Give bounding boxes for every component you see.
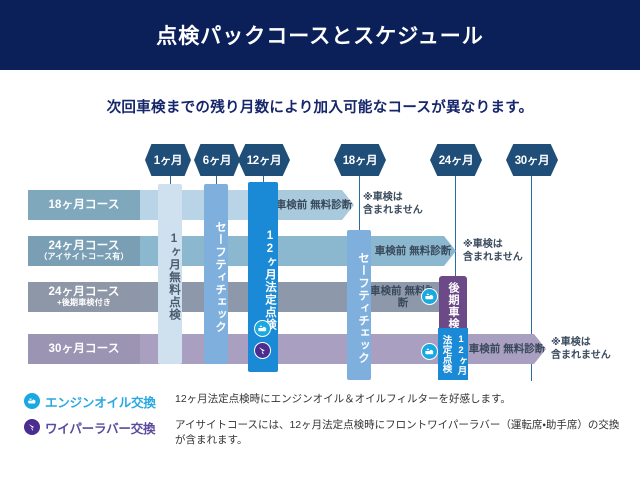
month-marker-12: 12ヶ月 — [238, 144, 290, 176]
legend-item-wiper: ワイパーラバー交換 アイサイトコースには、12ヶ月法定点検時にフロントワイパーラ… — [24, 418, 624, 448]
row-label-18-main: 18ヶ月コース — [48, 199, 119, 211]
month-marker-30: 30ヶ月 — [506, 144, 558, 176]
oil-can-icon-row3 — [421, 288, 438, 305]
oil-can-icon-row4 — [421, 343, 438, 360]
pre-inspection-chip-row4: 車検前 無料診断 — [468, 334, 546, 364]
row-label-24-eyesight: 24ヶ月コース （アイサイトコース有） — [28, 236, 140, 266]
wiper-icon — [24, 419, 40, 435]
legend-item-oil: エンジンオイル交換 12ヶ月法定点検時にエンジンオイル＆オイルフィルターを好感し… — [24, 392, 624, 411]
oil-can-icon — [24, 393, 40, 409]
oil-can-icon-main — [254, 320, 271, 337]
subtitle-text: 次回車検までの残り月数により加入可能なコースが異なります。 — [0, 96, 640, 117]
note-row2: ※車検は 含まれません — [463, 238, 523, 264]
month-marker-1: 1ヶ月 — [145, 144, 191, 176]
legal-check-12m-row4: 法定点検 12ヶ月 — [438, 328, 468, 380]
schedule-chart: 1ヶ月 6ヶ月 12ヶ月 18ヶ月 24ヶ月 30ヶ月 18ヶ月コース 車検前 … — [0, 138, 640, 383]
row-label-30-main: 30ヶ月コース — [48, 343, 119, 355]
month-marker-6: 6ヶ月 — [194, 144, 240, 176]
legend-label-wiper: ワイパーラバー交換 — [45, 418, 175, 437]
row-label-18: 18ヶ月コース — [28, 190, 140, 220]
legend-desc-oil: 12ヶ月法定点検時にエンジンオイル＆オイルフィルターを好感します。 — [175, 392, 624, 407]
late-inspection-box: 後期車検 — [439, 276, 467, 336]
month-marker-18: 18ヶ月 — [334, 144, 386, 176]
row-label-24-late-sub: +後期車検付き — [57, 299, 111, 307]
safety-check-bar-right: セーフティチェック — [347, 230, 371, 380]
wiper-icon-main — [254, 342, 271, 359]
legal-check-12m-row4-b: 12ヶ月 — [453, 328, 468, 380]
row-label-24-eyesight-main: 24ヶ月コース — [48, 240, 119, 252]
legend-label-oil: エンジンオイル交換 — [45, 392, 175, 411]
pre-inspection-chip-row1: 車検前 無料診断 — [274, 190, 354, 220]
row-track-30 — [140, 334, 440, 364]
row-label-24-late: 24ヶ月コース +後期車検付き — [28, 282, 140, 312]
infographic-root: 点検パックコースとスケジュール 次回車検までの残り月数により加入可能なコースが異… — [0, 0, 640, 480]
row-label-24-eyesight-sub: （アイサイトコース有） — [39, 253, 128, 261]
pre-inspection-chip-row2: 車検前 無料診断 — [370, 236, 456, 266]
note-row4: ※車検は 含まれません — [551, 336, 611, 362]
page-title: 点検パックコースとスケジュール — [156, 20, 483, 50]
free-inspection-1m-bar: 1ヶ月無料点検 — [158, 184, 182, 364]
legend: エンジンオイル交換 12ヶ月法定点検時にエンジンオイル＆オイルフィルターを好感し… — [24, 392, 624, 455]
legal-check-12m-row4-a: 法定点検 — [438, 328, 453, 380]
legend-desc-wiper: アイサイトコースには、12ヶ月法定点検時にフロントワイパーラバー（運転席・助手席… — [175, 418, 624, 448]
page-header: 点検パックコースとスケジュール — [0, 0, 640, 70]
month-marker-24: 24ヶ月 — [430, 144, 482, 176]
note-row1: ※車検は 含まれません — [363, 191, 423, 217]
row-label-24-late-main: 24ヶ月コース — [48, 286, 119, 298]
row-label-30: 30ヶ月コース — [28, 334, 140, 364]
safety-check-bar-left: セーフティチェック — [204, 184, 228, 364]
